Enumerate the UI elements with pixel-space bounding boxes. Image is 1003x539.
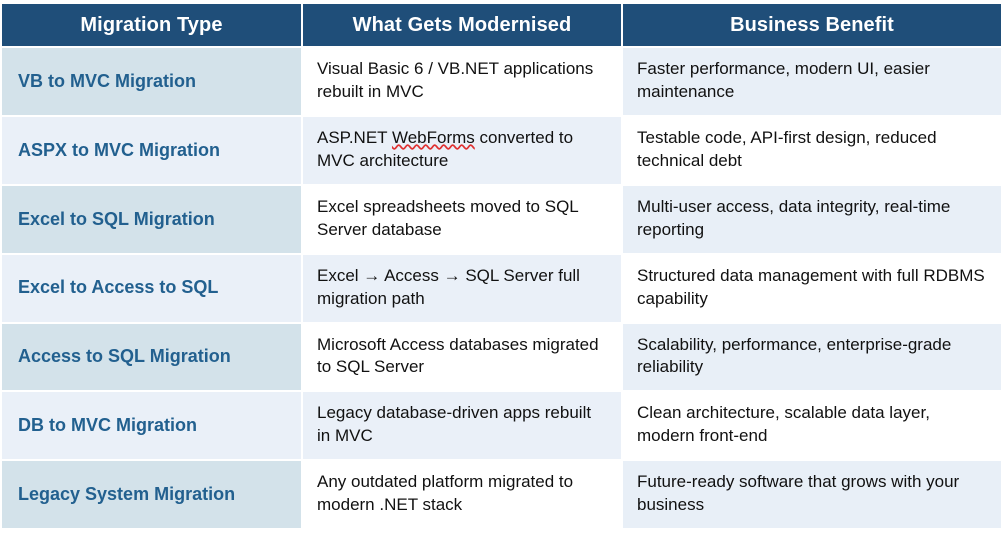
migration-table-container: Migration Type What Gets Modernised Busi… [0,0,1003,539]
cell-migration-type: Excel to SQL Migration [2,185,302,254]
cell-what-gets-modernised: Excel → Access → SQL Server full migrati… [302,254,622,323]
cell-migration-type: Access to SQL Migration [2,323,302,392]
table-row: Excel to Access to SQL Excel → Access → … [2,254,1001,323]
cell-migration-type: Excel to Access to SQL [2,254,302,323]
cell-what-gets-modernised: Microsoft Access databases migrated to S… [302,323,622,392]
table-body: VB to MVC Migration Visual Basic 6 / VB.… [2,47,1001,528]
column-header-what-gets-modernised: What Gets Modernised [302,4,622,47]
cell-what-gets-modernised: Visual Basic 6 / VB.NET applications reb… [302,47,622,116]
misspelled-word: WebForms [392,128,475,147]
table-row: VB to MVC Migration Visual Basic 6 / VB.… [2,47,1001,116]
table-row: DB to MVC Migration Legacy database-driv… [2,391,1001,460]
cell-what-gets-modernised: Legacy database-driven apps rebuilt in M… [302,391,622,460]
cell-migration-type: ASPX to MVC Migration [2,116,302,185]
cell-business-benefit: Clean architecture, scalable data layer,… [622,391,1001,460]
cell-migration-type: Legacy System Migration [2,460,302,528]
table-header: Migration Type What Gets Modernised Busi… [2,4,1001,47]
cell-business-benefit: Scalability, performance, enterprise-gra… [622,323,1001,392]
text-prefix: ASP.NET [317,128,392,147]
cell-business-benefit: Testable code, API-first design, reduced… [622,116,1001,185]
cell-what-gets-modernised: Excel spreadsheets moved to SQL Server d… [302,185,622,254]
cell-what-gets-modernised: ASP.NET WebForms converted to MVC archit… [302,116,622,185]
cell-migration-type: DB to MVC Migration [2,391,302,460]
column-header-migration-type: Migration Type [2,4,302,47]
migration-table: Migration Type What Gets Modernised Busi… [2,4,1001,528]
table-row: Excel to SQL Migration Excel spreadsheet… [2,185,1001,254]
cell-migration-type: VB to MVC Migration [2,47,302,116]
cell-business-benefit: Future-ready software that grows with yo… [622,460,1001,528]
table-row: Legacy System Migration Any outdated pla… [2,460,1001,528]
table-row: Access to SQL Migration Microsoft Access… [2,323,1001,392]
cell-business-benefit: Structured data management with full RDB… [622,254,1001,323]
cell-what-gets-modernised: Any outdated platform migrated to modern… [302,460,622,528]
cell-business-benefit: Multi-user access, data integrity, real-… [622,185,1001,254]
table-row: ASPX to MVC Migration ASP.NET WebForms c… [2,116,1001,185]
cell-business-benefit: Faster performance, modern UI, easier ma… [622,47,1001,116]
column-header-business-benefit: Business Benefit [622,4,1001,47]
header-row: Migration Type What Gets Modernised Busi… [2,4,1001,47]
